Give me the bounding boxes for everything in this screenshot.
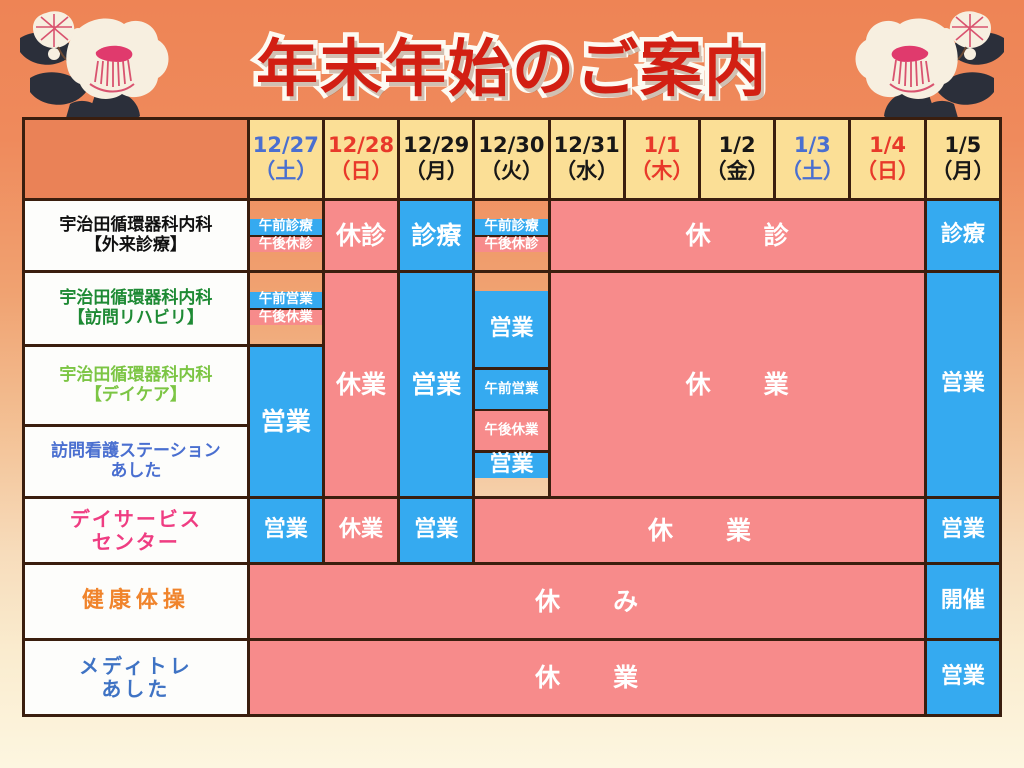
header-day-1227: 12/27 （土） — [248, 119, 323, 200]
header-day-1229: 12/29 （月） — [399, 119, 474, 200]
table-row-dayservice: デイサービス センター 営業 休業 営業 休 業 営業 — [24, 498, 1001, 564]
row-label-line1: メディトレ — [25, 655, 247, 677]
header-day-0101: 1/1 （木） — [624, 119, 699, 200]
table-header-row: 12/27 （土） 12/28 （日） 12/29 （月） 12/30 （火） … — [24, 119, 1001, 200]
row-label-houmonkango: 訪問看護ステーション あした — [24, 426, 249, 498]
row-label-line1: 宇治田循環器科内科 — [25, 289, 247, 308]
header-weekday: （土） — [250, 160, 322, 184]
cell-dayservice-1229: 営業 — [399, 498, 474, 564]
cell-gairai-1228: 休診 — [323, 200, 398, 272]
header-day-1231: 12/31 （水） — [549, 119, 624, 200]
row-label-line2: あした — [25, 678, 247, 700]
header-corner-cell — [24, 119, 249, 200]
cell-am-label: 午前診療 — [475, 219, 547, 236]
header-date: 1/4 — [851, 134, 923, 158]
schedule-table-wrap: 12/27 （土） 12/28 （日） 12/29 （月） 12/30 （火） … — [22, 117, 1002, 717]
schedule-table: 12/27 （土） 12/28 （日） 12/29 （月） 12/30 （火） … — [22, 117, 1002, 717]
cell-dayservice-1228: 休業 — [323, 498, 398, 564]
header-day-0103: 1/3 （土） — [775, 119, 850, 200]
cell-deicare-1227-span: 営業 — [248, 346, 323, 498]
table-row-gairai: 宇治田循環器科内科 【外来診療】 午前診療 午後休診 休診 診療 午前診療 午後… — [24, 200, 1001, 272]
header-weekday: （月） — [927, 160, 999, 184]
cell-dayservice-1227: 営業 — [248, 498, 323, 564]
cell-1230-group: 営業 午前営業 午後休業 営業 — [474, 272, 549, 498]
header-weekday: （月） — [400, 160, 472, 184]
cell-rehabili-1229-span: 営業 — [399, 272, 474, 498]
row-label-gairai: 宇治田循環器科内科 【外来診療】 — [24, 200, 249, 272]
header-date: 1/1 — [626, 134, 698, 158]
header-day-0105: 1/5 （月） — [925, 119, 1000, 200]
header-weekday: （日） — [325, 160, 397, 184]
row-label-line1: 宇治田循環器科内科 — [25, 216, 247, 235]
row-label-line1: 宇治田循環器科内科 — [25, 366, 247, 385]
cell-meditore-0105: 営業 — [925, 640, 1000, 716]
header-date: 1/5 — [927, 134, 999, 158]
header-date: 1/2 — [701, 134, 773, 158]
cell-pm-label: 午後休業 — [250, 310, 322, 325]
table-row-kenkotaiso: 健康体操 休 み 開催 — [24, 564, 1001, 640]
header-date: 12/29 — [400, 134, 472, 158]
header-day-1228: 12/28 （日） — [323, 119, 398, 200]
row-label-kenkotaiso: 健康体操 — [24, 564, 249, 640]
cell-gairai-1227: 午前診療 午後休診 — [248, 200, 323, 272]
cell-gairai-1231-0104: 休 診 — [549, 200, 925, 272]
header-day-0104: 1/4 （日） — [850, 119, 925, 200]
cell-pm-label: 午後休診 — [475, 237, 547, 252]
header-day-1230: 12/30 （火） — [474, 119, 549, 200]
header-weekday: （木） — [626, 160, 698, 184]
cell-houmonkango-1230: 営業 — [475, 453, 547, 478]
row-label-line1: 健康体操 — [25, 589, 247, 614]
cell-deicare-1230-am: 午前営業 — [475, 370, 547, 411]
cell-rehabili-0105-span: 営業 — [925, 272, 1000, 498]
cell-rehabili-1228-span: 休業 — [323, 272, 398, 498]
header-date: 12/30 — [475, 134, 547, 158]
cell-deicare-1230-pm: 午後休業 — [475, 411, 547, 453]
header-weekday: （火） — [475, 160, 547, 184]
header-weekday: （金） — [701, 160, 773, 184]
header-weekday: （水） — [551, 160, 623, 184]
cell-gairai-0105: 診療 — [925, 200, 1000, 272]
cell-rehabili-1227: 午前営業 午後休業 — [248, 272, 323, 346]
header-day-0102: 1/2 （金） — [700, 119, 775, 200]
cell-kenkotaiso-0105: 開催 — [925, 564, 1000, 640]
cell-kenkotaiso-1227-0104: 休 み — [248, 564, 925, 640]
row-label-line2: 【デイケア】 — [25, 386, 247, 405]
header-date: 12/31 — [551, 134, 623, 158]
row-label-line1: 訪問看護ステーション — [25, 442, 247, 461]
row-label-deicare: 宇治田循環器科内科 【デイケア】 — [24, 346, 249, 426]
cell-gairai-1230: 午前診療 午後休診 — [474, 200, 549, 272]
header-date: 12/28 — [325, 134, 397, 158]
header-weekday: （土） — [776, 160, 848, 184]
page-title: 年末年始のご案内 — [256, 18, 768, 108]
cell-rehabili-1230: 営業 — [475, 291, 547, 370]
row-label-line2: 【訪問リハビリ】 — [25, 309, 247, 328]
header-date: 1/3 — [776, 134, 848, 158]
page-title-wrap: 年末年始のご案内 — [0, 18, 1024, 108]
table-row-rehabili: 宇治田循環器科内科 【訪問リハビリ】 午前営業 午後休業 休業 営業 営業 午前… — [24, 272, 1001, 346]
header-date: 12/27 — [250, 134, 322, 158]
row-label-line2: あした — [25, 462, 247, 481]
table-row-meditore: メディトレ あした 休 業 営業 — [24, 640, 1001, 716]
row-label-dayservice: デイサービス センター — [24, 498, 249, 564]
cell-rehabili-1231-0104: 休 業 — [549, 272, 925, 498]
row-label-line1: デイサービス — [25, 508, 247, 530]
row-label-line2: 【外来診療】 — [25, 236, 247, 255]
row-label-line2: センター — [25, 531, 247, 553]
row-label-rehabili: 宇治田循環器科内科 【訪問リハビリ】 — [24, 272, 249, 346]
cell-meditore-1227-0104: 休 業 — [248, 640, 925, 716]
cell-am-label: 午前営業 — [250, 292, 322, 309]
cell-dayservice-0105: 営業 — [925, 498, 1000, 564]
cell-dayservice-1230-0104: 休 業 — [474, 498, 925, 564]
cell-pm-label: 午後休診 — [250, 237, 322, 252]
row-label-meditore: メディトレ あした — [24, 640, 249, 716]
cell-am-label: 午前診療 — [250, 219, 322, 236]
header-weekday: （日） — [851, 160, 923, 184]
cell-gairai-1229: 診療 — [399, 200, 474, 272]
